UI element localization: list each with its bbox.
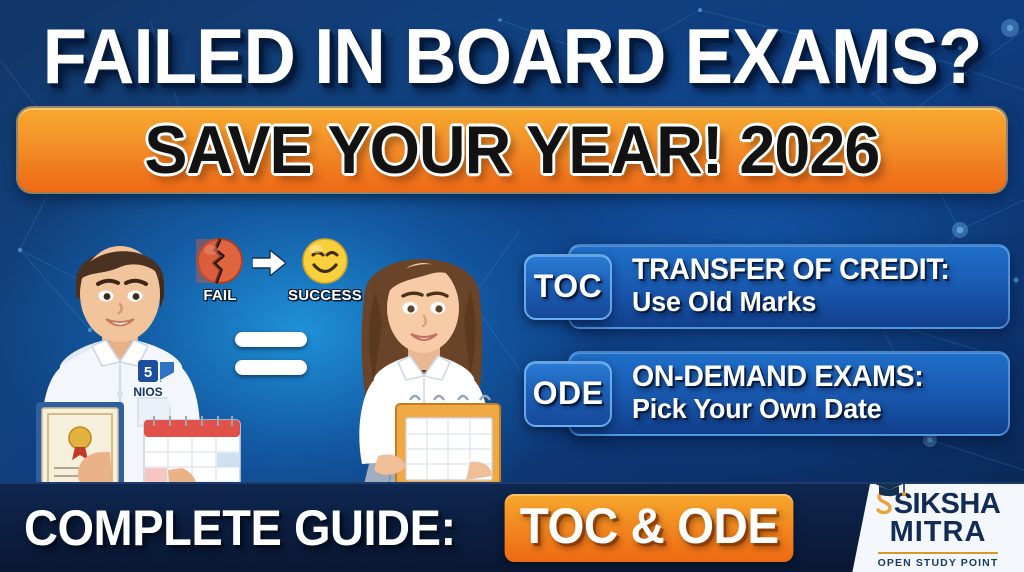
ode-card-title: ON-DEMAND EXAMS:: [632, 360, 976, 393]
headline-banner: SAVE YOUR YEAR! 2026: [18, 108, 1006, 192]
svg-text:5: 5: [144, 364, 152, 381]
brand-logo-row: SIKSHA: [876, 488, 1001, 521]
fail-label: FAIL: [186, 287, 254, 304]
fail-badge: FAIL: [186, 237, 254, 304]
toc-card-title: TRANSFER OF CREDIT:: [632, 253, 976, 286]
ode-card-body: ON-DEMAND EXAMS: Pick Your Own Date: [568, 351, 1010, 436]
footer-headline: COMPLETE GUIDE:: [24, 500, 456, 556]
thumbnail-canvas: FAILED IN BOARD EXAMS? SAVE YOUR YEAR! 2…: [0, 0, 1024, 572]
feature-card-toc[interactable]: TOC TRANSFER OF CREDIT: Use Old Marks: [524, 244, 1010, 329]
ode-tag-badge: ODE: [524, 361, 612, 427]
toc-card-subtitle: Use Old Marks: [632, 286, 980, 318]
toc-tag-badge: TOC: [524, 254, 612, 320]
toc-card-body: TRANSFER OF CREDIT: Use Old Marks: [568, 244, 1010, 329]
footer-highlight-pill: TOC & ODE: [505, 494, 794, 562]
female-student-illustration: [318, 224, 534, 492]
graduation-cap-icon: [872, 473, 906, 503]
headline-primary: FAILED IN BOARD EXAMS?: [36, 14, 988, 98]
logo-tagline: OPEN STUDY POINT: [878, 552, 999, 569]
ode-card-subtitle: Pick Your Own Date: [632, 393, 980, 425]
svg-text:NIOS: NIOS: [133, 385, 162, 399]
brand-logo[interactable]: SIKSHA MITRA OPEN STUDY POINT: [852, 484, 1024, 572]
arrow-right-icon: [252, 250, 286, 276]
feature-card-ode[interactable]: ODE ON-DEMAND EXAMS: Pick Your Own Date: [524, 351, 1010, 436]
logo-word-siksha: SIKSHA: [894, 488, 1001, 521]
headline-banner-text: SAVE YOUR YEAR! 2026: [145, 115, 880, 185]
footer-bar: COMPLETE GUIDE: TOC & ODE SIKSHA MITRA O…: [0, 482, 1024, 572]
cracked-circle-icon: [196, 237, 244, 285]
equals-sign-icon: [235, 332, 307, 388]
feature-card-list: TOC TRANSFER OF CREDIT: Use Old Marks OD…: [524, 244, 1010, 458]
